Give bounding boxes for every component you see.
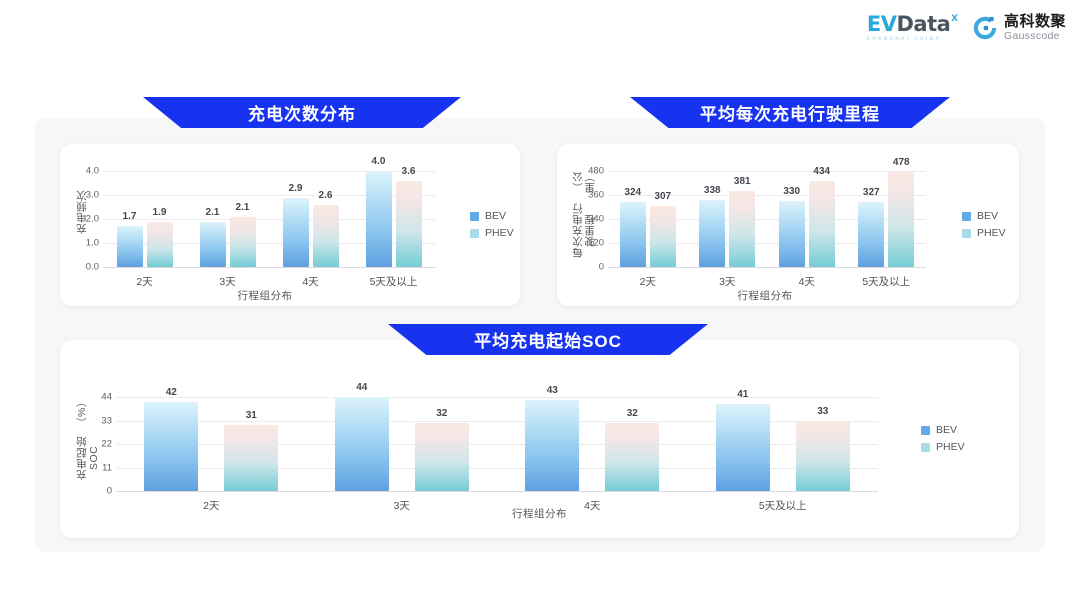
evdata-wordmark: EVData x: [867, 14, 958, 35]
chart-title-banner-charging-frequency: 充电次数分布: [143, 97, 461, 128]
evdata-logo: EVData x SHANGHAI CHINA: [867, 14, 958, 42]
chart-title-banner-avg-start-soc: 平均充电起始SOC: [388, 324, 708, 355]
gausscode-cn: 高科数聚: [1004, 14, 1066, 29]
chart-title-banner-avg-range: 平均每次充电行驶里程: [630, 97, 950, 128]
logo-group: EVData x SHANGHAI CHINA 高科数聚 Gausscode: [867, 14, 1066, 42]
gausscode-logo: 高科数聚 Gausscode: [972, 14, 1066, 42]
gausscode-mark-icon: [972, 15, 998, 41]
gausscode-wordmark: 高科数聚 Gausscode: [1004, 14, 1066, 42]
chart-card-avg-start-soc: [60, 340, 1019, 538]
evdata-text: EVData: [867, 14, 950, 35]
evdata-x-icon: x: [951, 10, 958, 24]
chart-card-charging-frequency: [60, 144, 520, 306]
page-header: EVData x SHANGHAI CHINA 高科数聚 Gausscode: [0, 0, 1080, 62]
gausscode-en: Gausscode: [1004, 31, 1066, 42]
chart-card-avg-range: [557, 144, 1019, 306]
evdata-tagline: SHANGHAI CHINA: [867, 37, 941, 42]
